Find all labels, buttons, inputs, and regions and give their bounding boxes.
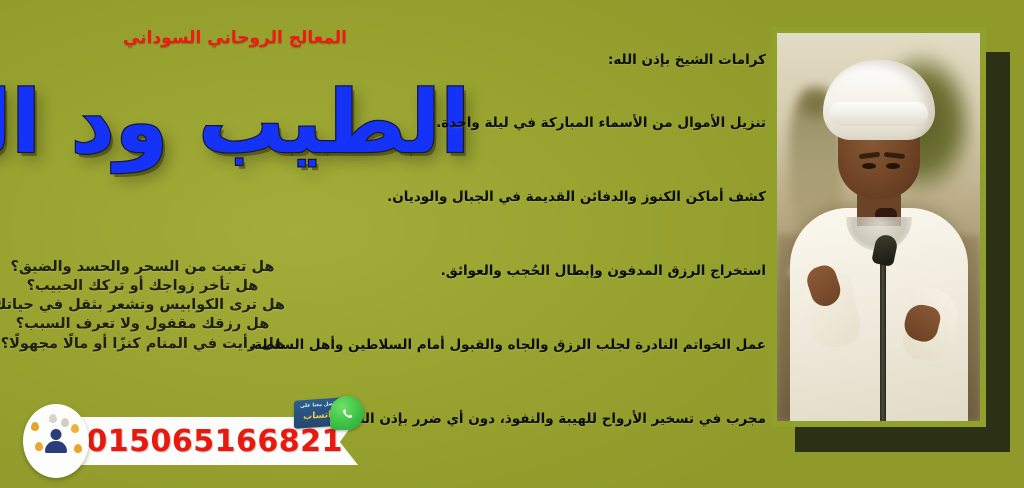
photo-frame — [771, 27, 986, 427]
question-line: هل تأخر زواجك أو تركك الحبيب؟ — [0, 277, 285, 296]
headline-text: المعالج الروحاني السوداني — [0, 28, 470, 48]
question-line: هل تعبت من السحر والحسد والضيق؟ — [0, 258, 285, 277]
whatsapp-icon[interactable] — [330, 396, 364, 430]
sparkle-icon — [35, 442, 43, 451]
microphone-stand — [880, 250, 886, 421]
person-icon — [45, 429, 67, 453]
question-line: هل رزقك مقفول ولا تعرف السبب؟ — [0, 315, 285, 334]
whatsapp-badge[interactable]: تواصل معنا على واتساب — [294, 396, 364, 438]
service-item: استخراج الرزق المدفون وإبطال الحُجب والع… — [346, 263, 766, 279]
service-item: عمل الخواتم النادرة لجلب الرزق والجاه وا… — [346, 337, 766, 353]
question-line: هل رأيت في المنام كنزًا أو مالًا مجهولًا… — [0, 335, 285, 354]
sparkle-icon — [74, 444, 82, 453]
services-list: كرامات الشيخ بإذن الله: تنزيل الأموال من… — [346, 52, 766, 427]
sparkle-icon — [31, 422, 39, 431]
logo-badge — [23, 404, 89, 478]
question-line: هل ترى الكوابيس وتشعر بثقل في حياتك؟ — [0, 296, 285, 315]
person-body-icon — [45, 441, 67, 453]
service-item: كشف أماكن الكنوز والدفائن القديمة في الج… — [346, 189, 766, 205]
service-item: تنزيل الأموال من الأسماء المباركة في ليل… — [346, 115, 766, 131]
sparkle-icon — [49, 414, 57, 423]
services-heading: كرامات الشيخ بإذن الله: — [346, 52, 766, 68]
person-head-icon — [51, 429, 62, 440]
poster-canvas: المعالج الروحاني السوداني الطيب ود النور… — [0, 0, 1024, 488]
right-eye-shape — [886, 163, 900, 169]
questions-block: هل تعبت من السحر والحسد والضيق؟ هل تأخر … — [0, 258, 285, 354]
sparkle-icon — [61, 418, 69, 427]
service-item: مجرب في تسخير الأرواح للهيبة والنفوذ، دو… — [346, 411, 766, 427]
portrait-photo — [777, 33, 980, 421]
sparkle-icon — [71, 424, 79, 433]
